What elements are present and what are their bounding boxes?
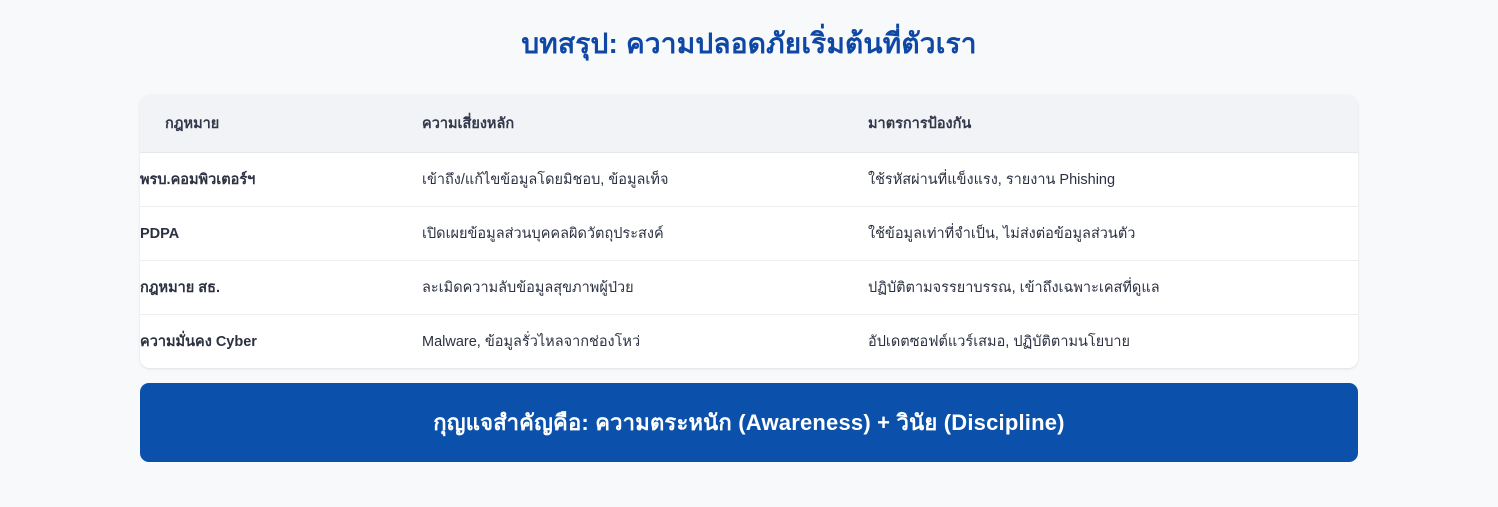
cell-risk: Malware, ข้อมูลรั่วไหลจากช่องโหว่	[422, 315, 868, 369]
column-header-measure: มาตรการป้องกัน	[868, 95, 1358, 153]
summary-table-card: กฎหมาย ความเสี่ยงหลัก มาตรการป้องกัน พรบ…	[140, 95, 1358, 368]
slide-root: บทสรุป: ความปลอดภัยเริ่มต้นที่ตัวเรา กฎห…	[0, 0, 1498, 507]
key-takeaway-text: กุญแจสำคัญคือ: ความตระหนัก (Awareness) +…	[433, 405, 1064, 440]
column-header-law: กฎหมาย	[140, 95, 422, 153]
cell-measure: อัปเดตซอฟต์แวร์เสมอ, ปฏิบัติตามนโยบาย	[868, 315, 1358, 369]
table-body: พรบ.คอมพิวเตอร์ฯ เข้าถึง/แก้ไขข้อมูลโดยม…	[140, 153, 1358, 369]
column-header-risk: ความเสี่ยงหลัก	[422, 95, 868, 153]
summary-table: กฎหมาย ความเสี่ยงหลัก มาตรการป้องกัน พรบ…	[140, 95, 1358, 368]
cell-law: พรบ.คอมพิวเตอร์ฯ	[140, 153, 422, 207]
table-row: ความมั่นคง Cyber Malware, ข้อมูลรั่วไหลจ…	[140, 315, 1358, 369]
table-header: กฎหมาย ความเสี่ยงหลัก มาตรการป้องกัน	[140, 95, 1358, 153]
cell-law: กฎหมาย สธ.	[140, 261, 422, 315]
cell-law: PDPA	[140, 207, 422, 261]
cell-risk: ละเมิดความลับข้อมูลสุขภาพผู้ป่วย	[422, 261, 868, 315]
cell-measure: ใช้ข้อมูลเท่าที่จำเป็น, ไม่ส่งต่อข้อมูลส…	[868, 207, 1358, 261]
table-row: พรบ.คอมพิวเตอร์ฯ เข้าถึง/แก้ไขข้อมูลโดยม…	[140, 153, 1358, 207]
key-takeaway-banner: กุญแจสำคัญคือ: ความตระหนัก (Awareness) +…	[140, 383, 1358, 462]
cell-measure: ปฏิบัติตามจรรยาบรรณ, เข้าถึงเฉพาะเคสที่ด…	[868, 261, 1358, 315]
cell-law: ความมั่นคง Cyber	[140, 315, 422, 369]
cell-risk: เปิดเผยข้อมูลส่วนบุคคลผิดวัตถุประสงค์	[422, 207, 868, 261]
table-row: กฎหมาย สธ. ละเมิดความลับข้อมูลสุขภาพผู้ป…	[140, 261, 1358, 315]
cell-risk: เข้าถึง/แก้ไขข้อมูลโดยมิชอบ, ข้อมูลเท็จ	[422, 153, 868, 207]
page-title: บทสรุป: ความปลอดภัยเริ่มต้นที่ตัวเรา	[0, 24, 1498, 64]
table-header-row: กฎหมาย ความเสี่ยงหลัก มาตรการป้องกัน	[140, 95, 1358, 153]
cell-measure: ใช้รหัสผ่านที่แข็งแรง, รายงาน Phishing	[868, 153, 1358, 207]
table-row: PDPA เปิดเผยข้อมูลส่วนบุคคลผิดวัตถุประสง…	[140, 207, 1358, 261]
